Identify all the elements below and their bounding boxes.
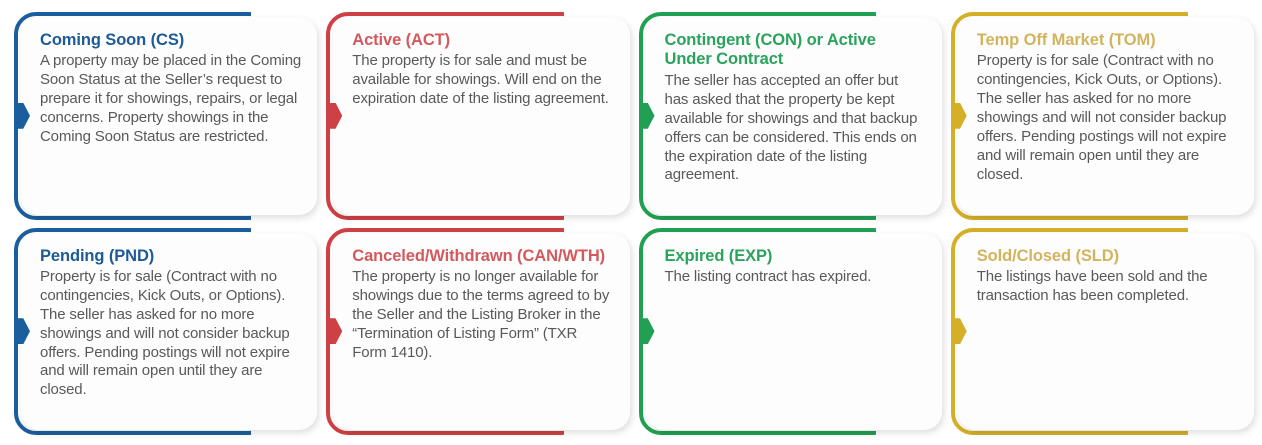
status-card-description-canceled-withdrawn: The property is no longer available for …: [352, 268, 613, 362]
status-card-grid: Coming Soon (CS) A property may be place…: [0, 0, 1262, 445]
status-card-active: Active (ACT) The property is for sale an…: [320, 12, 629, 220]
status-card-temp-off-market: Temp Off Market (TOM) Property is for sa…: [945, 12, 1254, 220]
status-card-panel-temp-off-market: Temp Off Market (TOM) Property is for sa…: [958, 17, 1254, 215]
status-card-description-temp-off-market: Property is for sale (Contract with no c…: [977, 52, 1238, 184]
status-card-panel-sold-closed: Sold/Closed (SLD) The listings have been…: [958, 233, 1254, 431]
status-card-description-expired: The listing contract has expired.: [665, 268, 926, 287]
status-card-title-expired: Expired (EXP): [665, 247, 926, 266]
status-card-pending: Pending (PND) Property is for sale (Cont…: [8, 228, 317, 436]
status-card-title-coming-soon: Coming Soon (CS): [40, 31, 301, 50]
status-card-description-active: The property is for sale and must be ava…: [352, 52, 613, 109]
status-card-panel-active: Active (ACT) The property is for sale an…: [333, 17, 629, 215]
status-card-contingent: Contingent (CON) or Active Under Contrac…: [633, 12, 942, 220]
status-card-title-temp-off-market: Temp Off Market (TOM): [977, 31, 1238, 50]
status-card-title-contingent: Contingent (CON) or Active Under Contrac…: [665, 31, 926, 70]
status-card-sold-closed: Sold/Closed (SLD) The listings have been…: [945, 228, 1254, 436]
status-card-title-canceled-withdrawn: Canceled/Withdrawn (CAN/WTH): [352, 247, 613, 266]
status-card-panel-coming-soon: Coming Soon (CS) A property may be place…: [21, 17, 317, 215]
status-card-description-coming-soon: A property may be placed in the Coming S…: [40, 52, 301, 146]
status-card-title-sold-closed: Sold/Closed (SLD): [977, 247, 1238, 266]
status-card-panel-canceled-withdrawn: Canceled/Withdrawn (CAN/WTH) The propert…: [333, 233, 629, 431]
status-card-expired: Expired (EXP) The listing contract has e…: [633, 228, 942, 436]
status-card-panel-pending: Pending (PND) Property is for sale (Cont…: [21, 233, 317, 431]
status-card-coming-soon: Coming Soon (CS) A property may be place…: [8, 12, 317, 220]
status-card-title-active: Active (ACT): [352, 31, 613, 50]
status-card-panel-contingent: Contingent (CON) or Active Under Contrac…: [646, 17, 942, 215]
status-card-title-pending: Pending (PND): [40, 247, 301, 266]
status-card-description-contingent: The seller has accepted an offer but has…: [665, 72, 926, 185]
status-card-canceled-withdrawn: Canceled/Withdrawn (CAN/WTH) The propert…: [320, 228, 629, 436]
status-card-panel-expired: Expired (EXP) The listing contract has e…: [646, 233, 942, 431]
status-card-description-pending: Property is for sale (Contract with no c…: [40, 268, 301, 400]
status-card-description-sold-closed: The listings have been sold and the tran…: [977, 268, 1238, 306]
